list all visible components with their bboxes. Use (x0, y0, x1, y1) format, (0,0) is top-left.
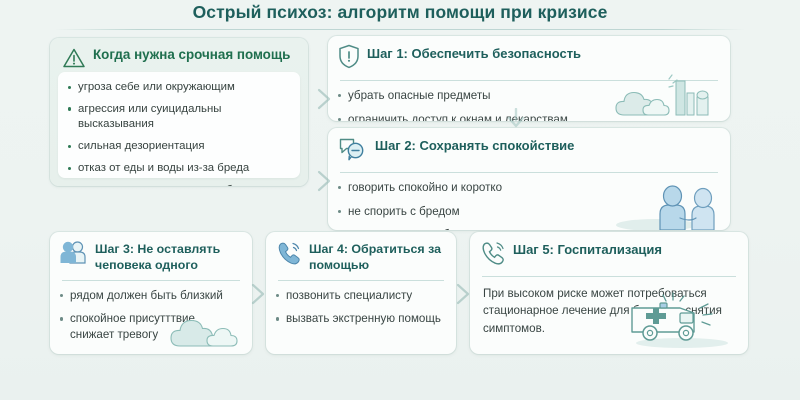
step-1-title: Шаг 1: Обеспечить безопасность (367, 44, 581, 62)
step-5-header: Шаг 5: Госпитализация (470, 232, 748, 270)
list-item: ограничить доступ к окнам и лекарствам (348, 112, 718, 121)
step-4-divider (278, 280, 444, 281)
step-3-title: Шаг 3: Не оставлять чеповека одного (95, 240, 242, 274)
phone-call-icon (276, 240, 302, 270)
step-5-paragraph: При высоком риске может потребоваться ст… (470, 277, 748, 337)
step-2-list: говорить спокойно и коротко не спорить с… (328, 180, 730, 230)
list-item: не спорить с бредом (348, 204, 718, 220)
step-card-3: Шаг 3: Не оставлять чеповека одного рядо… (50, 232, 252, 354)
list-item: позвонить специалисту (286, 288, 444, 304)
arrow-step3-to-step4 (250, 283, 266, 305)
warning-card: Когда нужна срочная помощь угроза себе и… (50, 38, 308, 186)
arrow-step4-to-step5 (455, 283, 471, 305)
step-1-header: Шаг 1: Обеспечить безопасность (328, 36, 730, 74)
list-item: убрать опасные предметы (348, 88, 718, 104)
warning-list-panel: угроза себе или окружающим агрессия или … (58, 72, 300, 178)
list-item: сильная дезориентация (78, 139, 290, 154)
step-5-title: Шаг 5: Госпитализация (513, 240, 662, 258)
list-item: агрессия или суицидальны высказывания (78, 102, 290, 133)
step-card-2: Шаг 2: Сохранять спокойствие говорить сп… (328, 128, 730, 230)
list-item: сильное психомоторное возбуждение (78, 183, 290, 186)
step-2-title: Шаг 2: Сохранять спокойствие (375, 136, 574, 154)
warning-triangle-icon (62, 47, 86, 74)
warning-card-header: Когда нужна срочная помощь (50, 38, 308, 74)
warning-card-title: Когда нужна срочная помощь (93, 47, 290, 62)
list-item: рядом должен быть близкий (70, 288, 240, 304)
step-4-title: Шаг 4: Обратиться за помощью (309, 240, 446, 274)
warning-list: угроза себе или окружающим агрессия или … (58, 72, 300, 186)
arrow-warning-to-step1 (316, 88, 332, 110)
arrow-step1-to-step2 (505, 108, 527, 128)
phone-call-icon (480, 240, 506, 270)
speech-bubbles-icon (338, 136, 368, 166)
two-persons-icon (60, 240, 88, 270)
step-1-list: убрать опасные предметы ограничить досту… (328, 88, 730, 121)
infographic-page: Острый психоз: алгоритм помощи при кризи… (0, 0, 800, 400)
page-title: Острый психоз: алгоритм помощи при кризи… (0, 2, 800, 23)
step-2-header: Шаг 2: Сохранять спокойствие (328, 128, 730, 166)
step-card-5: Шаг 5: Госпитализация При высоком риске … (470, 232, 748, 354)
list-item: угроза себе или окружающим (78, 80, 290, 95)
step-3-divider (62, 280, 240, 281)
step-3-header: Шаг 3: Не оставлять чеповека одного (50, 232, 252, 274)
step-4-header: Шаг 4: Обратиться за помощью (266, 232, 456, 274)
step-card-1: Шаг 1: Обеспечить безопасность убрать оп… (328, 36, 730, 121)
arrow-warning-to-step2 (316, 170, 332, 192)
list-item: не подтверждать бредовые идеи (348, 227, 718, 230)
step-3-list: рядом должен быть близкий спокойное прис… (50, 288, 252, 343)
step-4-list: позвонить специалисту вызвать экстренную… (266, 288, 456, 327)
shield-exclamation-icon (338, 44, 360, 74)
step-2-divider (340, 172, 718, 173)
list-item: говорить спокойно и коротко (348, 180, 718, 196)
list-item: вызвать экстренную помощь (286, 311, 444, 327)
list-item: отказ от еды и воды из-за бреда (78, 161, 290, 176)
title-divider (55, 29, 745, 30)
list-item: спокойное присутттвие снижает тревогу (70, 311, 240, 342)
step-1-divider (340, 80, 718, 81)
step-card-4: Шаг 4: Обратиться за помощью позвонить с… (266, 232, 456, 354)
